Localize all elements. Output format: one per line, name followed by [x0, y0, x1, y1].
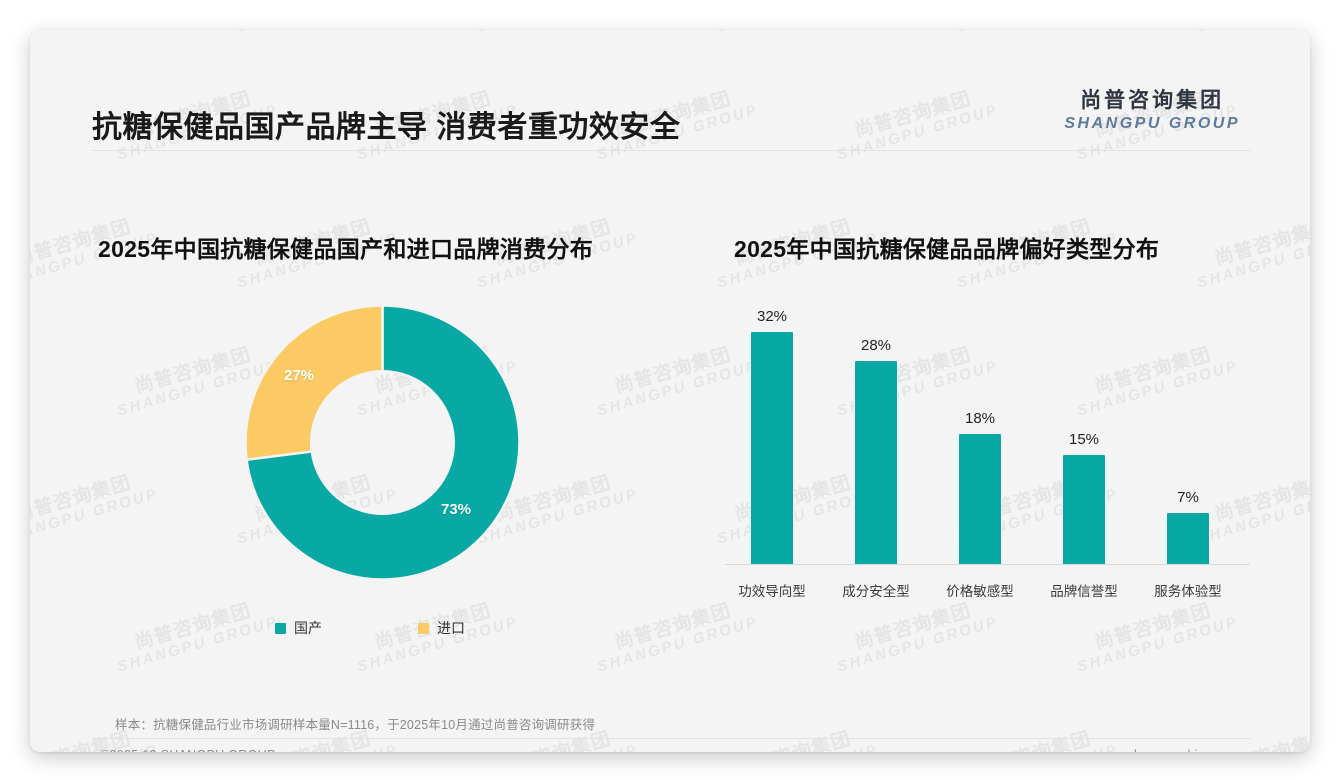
bar-category-label: 品牌信誉型: [1034, 580, 1134, 600]
bar-column[interactable]: 18%: [930, 410, 1030, 565]
legend-item-domestic[interactable]: 国产: [275, 618, 322, 638]
bar[interactable]: [959, 434, 1001, 565]
bar-value-label: 32%: [722, 308, 822, 325]
footer-copyright: ©2025.12 SHANGPU GROUP: [100, 748, 276, 752]
bar[interactable]: [1167, 513, 1209, 564]
header-divider: [92, 150, 1250, 151]
brand-logo-en: SHANGPU GROUP: [1064, 114, 1240, 134]
brand-logo-cn: 尚普咨询集团: [1064, 88, 1240, 113]
bar-column[interactable]: 15%: [1034, 431, 1134, 564]
donut-legend: 国产 进口: [275, 618, 465, 638]
slide-canvas: 尚普咨询集团SHANGPU GROUP尚普咨询集团SHANGPU GROUP尚普…: [0, 0, 1340, 780]
bar-category-label: 成分安全型: [826, 580, 926, 600]
bar[interactable]: [1063, 455, 1105, 564]
bar-category-label: 服务体验型: [1138, 580, 1238, 600]
footer-website[interactable]: www.shangpu-china.com: [1097, 748, 1240, 752]
bar-chart-axis: [725, 564, 1250, 565]
sample-note: 样本：抗糖保健品行业市场调研样本量N=1116，于2025年10月通过尚普咨询调…: [115, 714, 595, 733]
bar-column[interactable]: 32%: [722, 308, 822, 564]
brand-logo: 尚普咨询集团 SHANGPU GROUP: [1064, 88, 1240, 134]
bar-value-label: 15%: [1034, 431, 1134, 448]
bar-category-label: 价格敏感型: [930, 580, 1030, 600]
bar[interactable]: [751, 332, 793, 564]
legend-swatch-domestic: [275, 623, 286, 634]
legend-label-import: 进口: [437, 618, 465, 638]
bar-chart: 32%功效导向型28%成分安全型18%价格敏感型15%品牌信誉型7%服务体验型: [720, 300, 1280, 610]
footer-divider: [92, 738, 1250, 739]
bar-chart-title: 2025年中国抗糖保健品品牌偏好类型分布: [734, 230, 1159, 264]
donut-label-import: 27%: [284, 367, 314, 384]
bar-value-label: 28%: [826, 337, 926, 354]
bar-column[interactable]: 7%: [1138, 489, 1238, 564]
bar-column[interactable]: 28%: [826, 337, 926, 564]
slide-card: 尚普咨询集团SHANGPU GROUP尚普咨询集团SHANGPU GROUP尚普…: [30, 30, 1310, 752]
slide-header: 抗糖保健品国产品牌主导 消费者重功效安全 尚普咨询集团 SHANGPU GROU…: [30, 30, 1310, 120]
legend-swatch-import: [418, 623, 429, 634]
donut-svg: [245, 305, 520, 580]
donut-chart: 73% 27%: [245, 305, 520, 580]
bar-value-label: 18%: [930, 410, 1030, 427]
donut-label-domestic: 73%: [441, 501, 471, 518]
bar[interactable]: [855, 361, 897, 564]
legend-label-domestic: 国产: [294, 618, 322, 638]
bar-value-label: 7%: [1138, 489, 1238, 506]
donut-chart-title: 2025年中国抗糖保健品国产和进口品牌消费分布: [98, 230, 593, 264]
legend-item-import[interactable]: 进口: [418, 618, 465, 638]
bar-category-label: 功效导向型: [722, 580, 822, 600]
page-title: 抗糖保健品国产品牌主导 消费者重功效安全: [92, 102, 680, 146]
